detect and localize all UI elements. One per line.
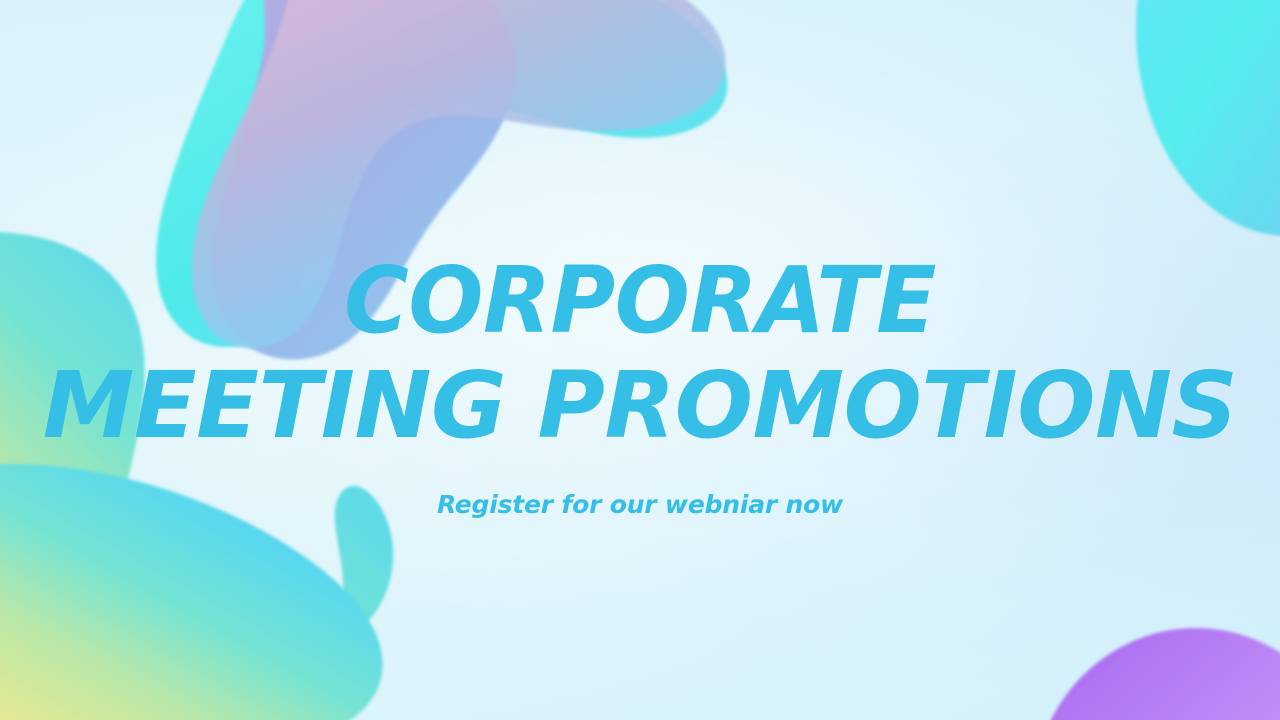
promo-poster: CORPORATE MEETING PROMOTIONS Register fo… bbox=[0, 0, 1280, 720]
page-title-line-2: MEETING PROMOTIONS bbox=[0, 360, 1280, 452]
page-title-line-1: CORPORATE bbox=[26, 255, 1255, 347]
subtitle-cta: Register for our webniar now bbox=[0, 490, 1280, 519]
poster-content: CORPORATE MEETING PROMOTIONS Register fo… bbox=[0, 0, 1280, 720]
